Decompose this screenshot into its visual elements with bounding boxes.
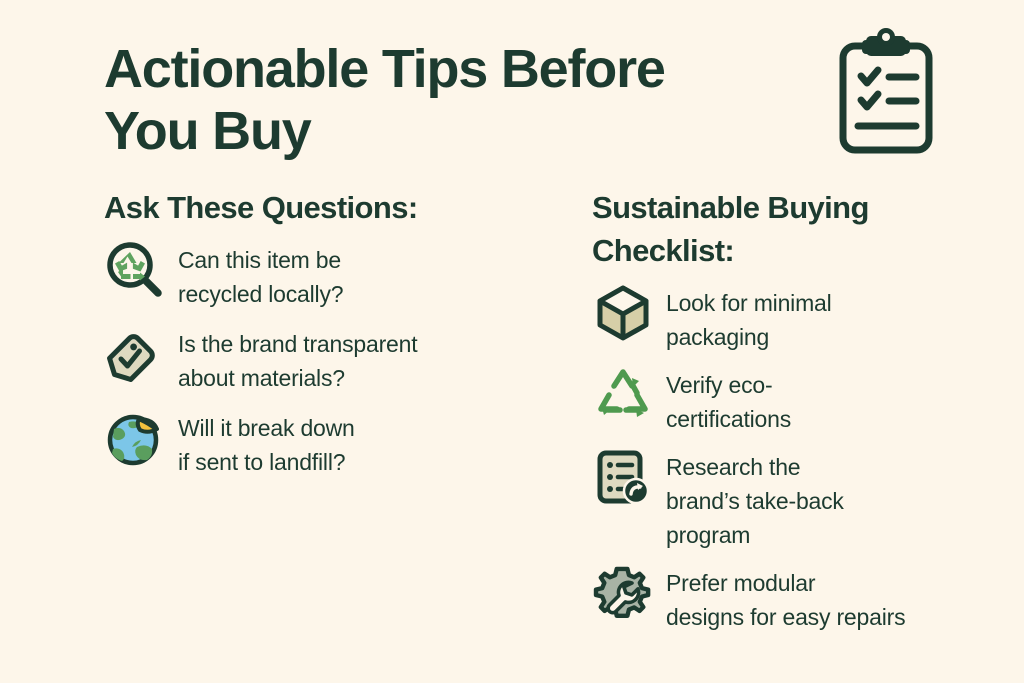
recycle-symbol-icon bbox=[592, 364, 654, 426]
cardboard-box-icon bbox=[592, 282, 654, 344]
clipboard-checklist-icon bbox=[836, 28, 936, 160]
list-item: Can this item be recycled locally? bbox=[104, 239, 574, 311]
list-item-text: Is the brand transparent about materials… bbox=[178, 323, 417, 395]
infographic-canvas: Actionable Tips Before You Buy Ask These… bbox=[0, 0, 1024, 683]
column-sustainable-buying-checklist: Sustainable Buying Checklist: Look for m… bbox=[592, 186, 1012, 644]
magnifier-recycle-icon bbox=[104, 239, 166, 301]
list-item-text: Research the brand’s take-back program bbox=[666, 446, 844, 552]
column-heading-right: Sustainable Buying Checklist: bbox=[592, 186, 1012, 272]
gear-wrench-icon bbox=[592, 562, 654, 624]
list-item: Look for minimal packaging bbox=[592, 282, 1012, 354]
list-item-text: Prefer modular designs for easy repairs bbox=[666, 562, 905, 634]
header: Actionable Tips Before You Buy bbox=[104, 38, 804, 162]
list-item-text: Will it break down if sent to landfill? bbox=[178, 407, 355, 479]
list-item: Prefer modular designs for easy repairs bbox=[592, 562, 1012, 634]
column-ask-these-questions: Ask These Questions: bbox=[104, 186, 574, 491]
columns-container: Ask These Questions: bbox=[0, 186, 1024, 683]
list-item-text: Look for minimal packaging bbox=[666, 282, 832, 354]
column-heading-left: Ask These Questions: bbox=[104, 186, 574, 229]
price-tag-check-icon bbox=[104, 323, 166, 385]
document-return-icon bbox=[592, 446, 654, 508]
list-item: Is the brand transparent about materials… bbox=[104, 323, 574, 395]
checklist-list: Look for minimal packaging bbox=[592, 282, 1012, 634]
list-item-text: Can this item be recycled locally? bbox=[178, 239, 343, 311]
list-item: Will it break down if sent to landfill? bbox=[104, 407, 574, 479]
page-title: Actionable Tips Before You Buy bbox=[104, 38, 804, 162]
list-item: Verify eco- certifications bbox=[592, 364, 1012, 436]
list-item-text: Verify eco- certifications bbox=[666, 364, 791, 436]
question-list: Can this item be recycled locally? Is th… bbox=[104, 239, 574, 479]
globe-leaf-icon bbox=[104, 407, 166, 469]
list-item: Research the brand’s take-back program bbox=[592, 446, 1012, 552]
